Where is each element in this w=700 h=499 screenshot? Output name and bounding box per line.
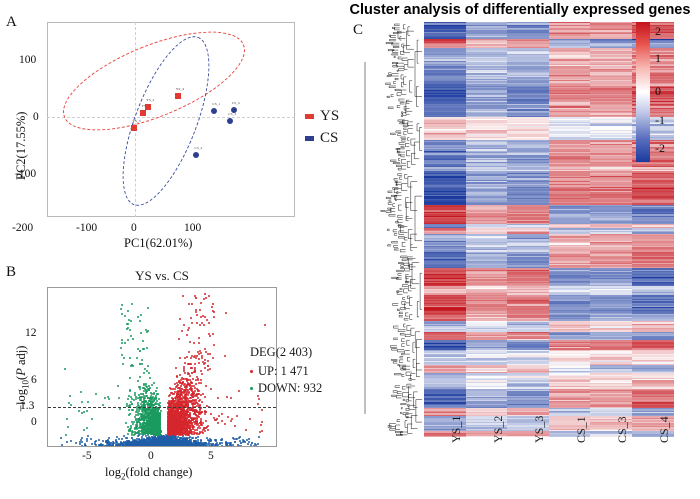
- volcano-point: [142, 446, 144, 447]
- volcano-point: [170, 446, 172, 447]
- volcano-point: [176, 446, 178, 447]
- volcano-point: [168, 446, 170, 447]
- volcano-point: [161, 446, 163, 447]
- volcano-point: [160, 446, 162, 447]
- volcano-point: [192, 446, 194, 447]
- volcano-point: [127, 446, 129, 447]
- volcano-point: [221, 439, 223, 441]
- volcano-point: [133, 446, 135, 447]
- volcano-point: [143, 446, 145, 447]
- volcano-point: [143, 446, 145, 447]
- volcano-point: [169, 446, 171, 447]
- volcano-point: [201, 447, 203, 448]
- volcano-point: [135, 446, 137, 447]
- volcano-point: [166, 446, 168, 447]
- volcano-point: [169, 446, 171, 447]
- volcano-point: [156, 446, 158, 447]
- pca-point-ys_4: [175, 93, 181, 99]
- volcano-point: [148, 446, 150, 447]
- volcano-point: [143, 446, 145, 447]
- volcano-point: [147, 446, 149, 447]
- volcano-point: [150, 446, 152, 447]
- volcano-point: [159, 446, 161, 447]
- volcano-point: [172, 446, 174, 447]
- volcano-point: [146, 446, 148, 447]
- volcano-point: [166, 446, 168, 447]
- volcano-point: [162, 446, 164, 447]
- volcano-point: [147, 446, 149, 447]
- volcano-point: [141, 446, 143, 447]
- volcano-point: [142, 446, 144, 447]
- volcano-point: [139, 446, 141, 447]
- volcano-point: [156, 446, 158, 447]
- pca-point-ys_2: [145, 104, 151, 110]
- volcano-point: [155, 446, 157, 447]
- volcano-point: [139, 446, 141, 447]
- volcano-point: [162, 446, 164, 447]
- volcano-point: [218, 446, 220, 447]
- volcano-point: [150, 446, 152, 447]
- volcano-point: [204, 396, 206, 398]
- volcano-point: [149, 446, 151, 447]
- volcano-point: [165, 446, 167, 447]
- volcano-point: [137, 435, 139, 437]
- pca-ytick-1: 0: [33, 111, 39, 123]
- volcano-point: [182, 446, 184, 447]
- volcano-point: [156, 446, 158, 447]
- volcano-point: [163, 446, 165, 447]
- volcano-point: [155, 446, 157, 447]
- pca-ytick-0: 100: [19, 54, 36, 66]
- volcano-point: [215, 446, 217, 447]
- volcano-point: [149, 446, 151, 447]
- volcano-point: [142, 446, 144, 447]
- volcano-point: [154, 446, 156, 447]
- volcano-point: [160, 446, 162, 447]
- volcano-point: [171, 446, 173, 447]
- volcano-point: [170, 446, 172, 447]
- volcano-point: [160, 446, 162, 447]
- volcano-point: [191, 444, 193, 446]
- volcano-point: [155, 446, 157, 447]
- volcano-point: [211, 444, 213, 446]
- volcano-point: [123, 446, 125, 447]
- volcano-point: [152, 446, 154, 447]
- volcano-point: [186, 446, 188, 447]
- volcano-point: [171, 446, 173, 447]
- volcano-point: [209, 446, 211, 447]
- volcano-point: [171, 438, 173, 440]
- volcano-point: [157, 446, 159, 447]
- volcano-point: [196, 446, 198, 447]
- volcano-point: [62, 446, 64, 447]
- volcano-point: [159, 446, 161, 447]
- volcano-point: [177, 446, 179, 447]
- pca-point-label-cs_2: CS_2: [194, 146, 202, 150]
- volcano-point: [207, 446, 209, 447]
- volcano-point: [200, 446, 202, 447]
- volcano-point: [156, 446, 158, 447]
- volcano-point: [154, 446, 156, 447]
- pca-legend-swatch-ys: [305, 114, 314, 119]
- volcano-point: [195, 446, 197, 447]
- volcano-point: [140, 446, 142, 447]
- volcano-point: [160, 446, 162, 447]
- volcano-point: [167, 446, 169, 447]
- volcano-point: [177, 446, 179, 447]
- volcano-point: [154, 446, 156, 447]
- volcano-point: [186, 446, 188, 447]
- volcano-point: [154, 446, 156, 447]
- volcano-point: [153, 446, 155, 447]
- volcano-point: [206, 437, 208, 439]
- volcano-point: [154, 446, 156, 447]
- pca-x-axis-title: PC1(62.01%): [124, 236, 192, 251]
- volcano-point: [139, 446, 141, 447]
- volcano-point: [139, 446, 141, 447]
- volcano-point: [66, 441, 68, 443]
- volcano-point: [165, 446, 167, 447]
- volcano-point: [162, 446, 164, 447]
- volcano-point: [177, 446, 179, 447]
- volcano-point: [162, 446, 164, 447]
- volcano-point: [222, 446, 224, 447]
- volcano-point: [159, 446, 161, 447]
- volcano-point: [176, 446, 178, 447]
- volcano-point: [165, 446, 167, 447]
- volcano-point: [174, 446, 176, 447]
- volcano-point: [170, 446, 172, 447]
- volcano-point: [151, 446, 153, 447]
- pca-point-label-cs_3: CS_3: [228, 112, 236, 116]
- volcano-point: [152, 446, 154, 447]
- volcano-point: [184, 446, 186, 447]
- volcano-point: [181, 446, 183, 447]
- volcano-point: [173, 446, 175, 447]
- figure-canvas: A YS_1YS_2YS_3YS_4CS_1CS_2CS_3CS_4 100 0…: [0, 0, 700, 499]
- volcano-point: [100, 446, 102, 447]
- volcano-point: [148, 446, 150, 447]
- volcano-point: [136, 446, 138, 447]
- volcano-point: [143, 446, 145, 447]
- volcano-point: [164, 446, 166, 447]
- volcano-point: [168, 447, 170, 448]
- volcano-point: [168, 446, 170, 447]
- volcano-point: [73, 446, 75, 447]
- volcano-point: [181, 446, 183, 447]
- volcano-point: [155, 446, 157, 447]
- volcano-point: [170, 446, 172, 447]
- volcano-point: [151, 446, 153, 447]
- volcano-point: [164, 446, 166, 447]
- volcano-point: [138, 446, 140, 447]
- volcano-point: [190, 446, 192, 447]
- volcano-point: [152, 446, 154, 447]
- volcano-point: [125, 446, 127, 447]
- volcano-point: [204, 413, 206, 415]
- volcano-point: [123, 446, 125, 447]
- volcano-point: [146, 446, 148, 447]
- pca-xtick-1: -100: [76, 222, 97, 234]
- volcano-point: [81, 445, 83, 447]
- volcano-point: [145, 446, 147, 447]
- volcano-point: [119, 446, 121, 447]
- volcano-point: [163, 446, 165, 447]
- volcano-point: [176, 446, 178, 447]
- volcano-point: [177, 446, 179, 447]
- volcano-point: [158, 446, 160, 447]
- pca-point-ys_1: [140, 110, 146, 116]
- volcano-point: [158, 446, 160, 447]
- volcano-point: [97, 446, 99, 447]
- volcano-point: [140, 446, 142, 447]
- volcano-point: [199, 446, 201, 447]
- volcano-point: [177, 446, 179, 447]
- volcano-point: [137, 446, 139, 447]
- volcano-point: [154, 446, 156, 447]
- volcano-point: [202, 444, 204, 446]
- volcano-point: [157, 445, 159, 447]
- volcano-point: [247, 443, 249, 445]
- volcano-point: [128, 446, 130, 447]
- pca-legend-item-cs[interactable]: CS: [305, 127, 339, 149]
- volcano-point: [154, 446, 156, 447]
- pca-point-cs_4: [231, 107, 237, 113]
- volcano-point: [181, 446, 183, 447]
- volcano-point: [178, 446, 180, 447]
- volcano-point: [150, 446, 152, 447]
- volcano-point: [174, 446, 176, 447]
- volcano-point: [183, 446, 185, 447]
- volcano-point: [157, 446, 159, 447]
- volcano-point: [205, 446, 207, 447]
- volcano-point: [196, 429, 198, 431]
- volcano-point: [130, 446, 132, 447]
- volcano-point: [176, 446, 178, 447]
- volcano-point: [150, 442, 152, 444]
- pca-legend-label-cs: CS: [320, 130, 338, 147]
- volcano-point: [171, 446, 173, 447]
- volcano-point: [153, 446, 155, 447]
- volcano-point: [176, 446, 178, 447]
- volcano-point: [133, 446, 135, 447]
- pca-point-label-ys_2: YS_2: [146, 98, 154, 102]
- volcano-point: [155, 446, 157, 447]
- volcano-point: [167, 446, 169, 447]
- volcano-point: [171, 446, 173, 447]
- volcano-point: [168, 446, 170, 447]
- volcano-point: [158, 446, 160, 447]
- volcano-point: [181, 446, 183, 447]
- volcano-point: [158, 446, 160, 447]
- pca-legend-swatch-cs: [305, 136, 314, 141]
- volcano-point: [198, 433, 200, 435]
- volcano-point: [208, 445, 210, 447]
- volcano-point: [192, 437, 194, 439]
- volcano-point: [240, 445, 242, 447]
- volcano-point: [178, 446, 180, 447]
- volcano-point: [163, 446, 165, 447]
- volcano-point: [93, 446, 95, 447]
- volcano-point: [154, 436, 156, 438]
- volcano-point: [156, 446, 158, 447]
- volcano-point: [171, 446, 173, 447]
- volcano-point: [139, 446, 141, 447]
- volcano-point: [159, 446, 161, 447]
- volcano-point: [122, 446, 124, 447]
- volcano-point: [148, 446, 150, 447]
- volcano-point: [136, 446, 138, 447]
- volcano-point: [162, 446, 164, 447]
- volcano-point: [124, 446, 126, 447]
- volcano-point: [87, 446, 89, 447]
- volcano-point: [135, 446, 137, 447]
- volcano-point: [176, 445, 178, 447]
- volcano-point: [199, 446, 201, 447]
- volcano-point: [178, 446, 180, 447]
- volcano-point: [169, 445, 171, 447]
- volcano-point: [146, 446, 148, 447]
- volcano-point: [173, 444, 175, 446]
- volcano-point: [147, 446, 149, 447]
- pca-point-label-cs_4: CS_4: [232, 101, 240, 105]
- volcano-point: [81, 441, 83, 443]
- volcano-point: [98, 446, 100, 447]
- volcano-point: [155, 446, 157, 447]
- volcano-point: [170, 446, 172, 447]
- volcano-point: [164, 446, 166, 447]
- volcano-point: [163, 446, 165, 447]
- volcano-point: [147, 446, 149, 447]
- volcano-point: [174, 446, 176, 447]
- volcano-point: [118, 438, 120, 440]
- volcano-point: [176, 446, 178, 447]
- volcano-point: [169, 446, 171, 447]
- volcano-point: [200, 370, 202, 372]
- volcano-point: [167, 446, 169, 447]
- volcano-point: [152, 446, 154, 447]
- volcano-point: [203, 446, 205, 447]
- volcano-point: [131, 437, 133, 439]
- volcano-point: [159, 446, 161, 447]
- volcano-point: [174, 446, 176, 447]
- volcano-point: [146, 446, 148, 447]
- volcano-point: [166, 446, 168, 447]
- volcano-point: [174, 446, 176, 447]
- volcano-point: [170, 446, 172, 447]
- volcano-point: [167, 447, 169, 448]
- volcano-point: [100, 446, 102, 447]
- volcano-point: [172, 446, 174, 447]
- volcano-point: [140, 446, 142, 447]
- volcano-point: [187, 446, 189, 447]
- volcano-point: [205, 446, 207, 447]
- volcano-point: [166, 446, 168, 447]
- volcano-point: [167, 447, 169, 448]
- volcano-point: [119, 444, 121, 446]
- volcano-point: [163, 446, 165, 447]
- volcano-point: [179, 446, 181, 447]
- volcano-point: [179, 439, 181, 441]
- volcano-point: [179, 446, 181, 447]
- volcano-point: [156, 446, 158, 447]
- pca-legend-item-ys[interactable]: YS: [305, 105, 339, 127]
- volcano-point: [175, 446, 177, 447]
- volcano-point: [191, 446, 193, 447]
- volcano-point: [151, 446, 153, 447]
- volcano-point: [175, 446, 177, 447]
- volcano-point: [172, 446, 174, 447]
- volcano-point: [157, 446, 159, 447]
- volcano-point: [169, 446, 171, 447]
- volcano-point: [139, 446, 141, 447]
- volcano-point: [156, 447, 158, 448]
- volcano-point: [134, 446, 136, 447]
- pca-legend: YS CS: [305, 105, 339, 149]
- volcano-point: [144, 446, 146, 447]
- volcano-point: [177, 446, 179, 447]
- volcano-point: [174, 446, 176, 447]
- volcano-point: [155, 446, 157, 447]
- volcano-point: [153, 446, 155, 447]
- volcano-point: [153, 446, 155, 447]
- volcano-point: [163, 446, 165, 447]
- volcano-point: [98, 439, 100, 441]
- volcano-point: [160, 446, 162, 447]
- volcano-point: [154, 446, 156, 447]
- volcano-point: [169, 446, 171, 447]
- volcano-point: [161, 446, 163, 447]
- volcano-point: [186, 446, 188, 447]
- volcano-point: [130, 446, 132, 447]
- volcano-point: [165, 446, 167, 447]
- volcano-point: [180, 446, 182, 447]
- volcano-point: [151, 446, 153, 447]
- volcano-point: [151, 446, 153, 447]
- volcano-point: [162, 446, 164, 447]
- volcano-point: [140, 446, 142, 447]
- volcano-point: [179, 446, 181, 447]
- volcano-point: [182, 446, 184, 447]
- volcano-point: [156, 446, 158, 447]
- volcano-point: [116, 446, 118, 447]
- volcano-point: [164, 446, 166, 447]
- volcano-point: [173, 447, 175, 448]
- volcano-point: [126, 446, 128, 447]
- volcano-point: [142, 446, 144, 447]
- volcano-point: [157, 446, 159, 447]
- volcano-point: [188, 446, 190, 447]
- volcano-point: [145, 446, 147, 447]
- volcano-point: [141, 446, 143, 447]
- volcano-point: [183, 446, 185, 447]
- volcano-point: [135, 446, 137, 447]
- volcano-point: [144, 446, 146, 447]
- volcano-point: [170, 446, 172, 447]
- volcano-point: [160, 446, 162, 447]
- volcano-point: [176, 446, 178, 447]
- volcano-point: [125, 446, 127, 447]
- volcano-point: [148, 446, 150, 447]
- pca-point-label-ys_3: YS_3: [132, 119, 140, 123]
- volcano-point: [133, 446, 135, 447]
- volcano-point: [196, 446, 198, 447]
- volcano-point: [174, 441, 176, 443]
- volcano-point: [184, 446, 186, 447]
- volcano-point: [257, 443, 259, 445]
- volcano-point: [171, 446, 173, 447]
- volcano-point: [184, 445, 186, 447]
